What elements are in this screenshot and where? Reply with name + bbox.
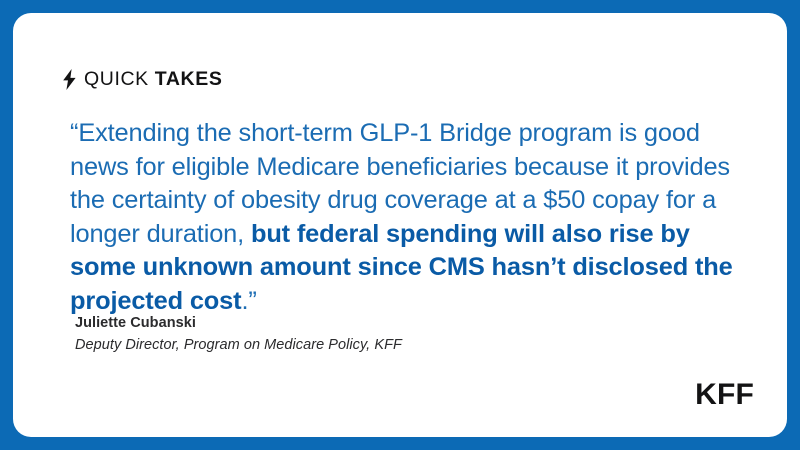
- attribution-name: Juliette Cubanski: [75, 313, 735, 333]
- kicker-word-takes: TAKES: [155, 68, 223, 90]
- pull-quote: “Extending the short-term GLP-1 Bridge p…: [70, 117, 760, 319]
- attribution: Juliette Cubanski Deputy Director, Progr…: [75, 313, 735, 356]
- blue-border-frame: QUICK TAKES “Extending the short-term GL…: [0, 0, 800, 450]
- kicker-word-quick: QUICK: [84, 68, 149, 90]
- quote-close-mark: .”: [241, 287, 256, 315]
- quick-takes-kicker: QUICK TAKES: [62, 66, 222, 92]
- attribution-title: Deputy Director, Program on Medicare Pol…: [75, 335, 735, 356]
- kff-logo: KFF: [695, 380, 754, 410]
- quick-takes-label: QUICK TAKES: [84, 68, 222, 91]
- lightning-bolt-icon: [62, 69, 77, 90]
- quote-card: QUICK TAKES “Extending the short-term GL…: [13, 13, 787, 437]
